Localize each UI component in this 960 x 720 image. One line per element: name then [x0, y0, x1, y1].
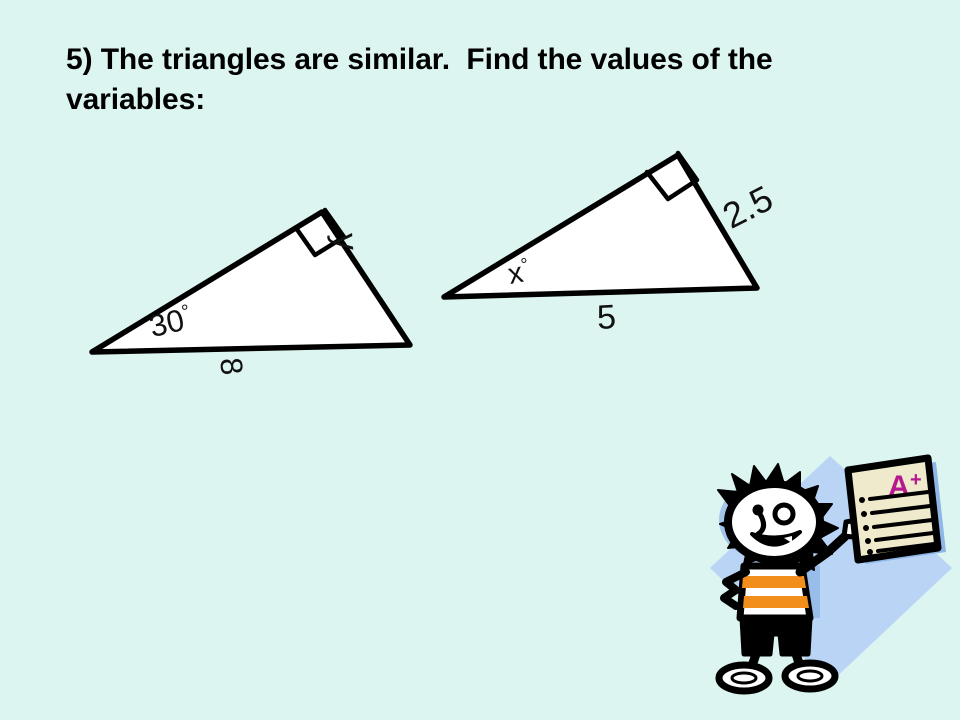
shorts: [742, 618, 810, 654]
grade-plus: +: [910, 469, 922, 491]
right-eye: [775, 505, 793, 523]
label-side-5: 5: [596, 298, 617, 338]
right-triangle-outline: [444, 155, 757, 297]
right-triangle: [444, 153, 757, 297]
shoes: [719, 663, 835, 691]
label-side-y: y: [325, 232, 365, 252]
slide-canvas: 5) The triangles are similar. Find the v…: [0, 0, 960, 720]
face: [728, 484, 820, 560]
boy-holding-a-plus-test-clipart: A +: [700, 448, 960, 698]
